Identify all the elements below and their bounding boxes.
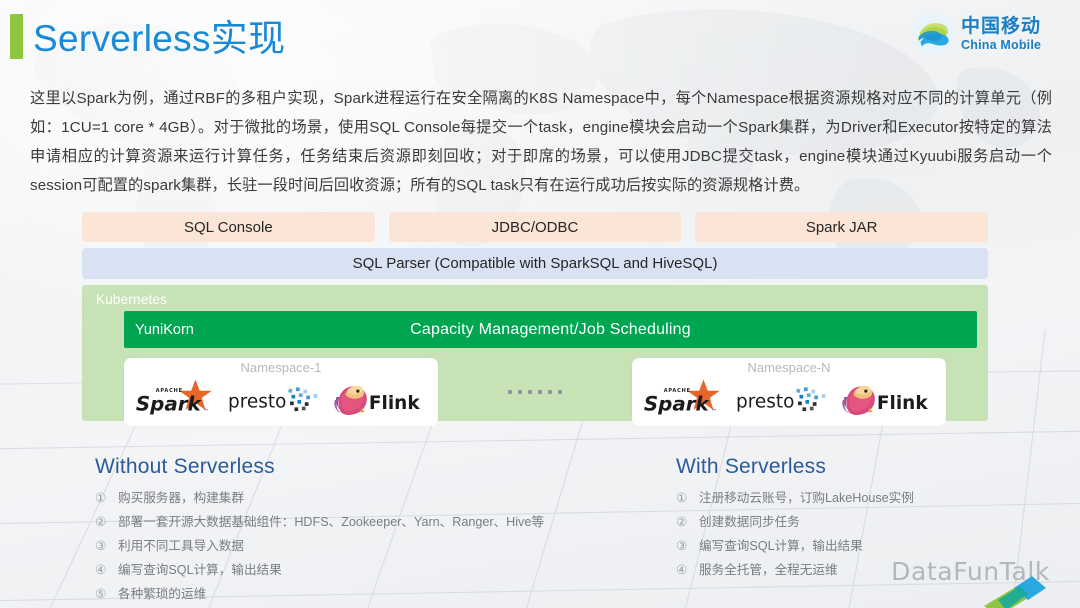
list-item-text: 利用不同工具导入数据 (118, 536, 244, 558)
list-item: ② 创建数据同步任务 (676, 512, 1066, 534)
datafuntalk-logo-icon (940, 554, 1060, 608)
kubernetes-container: Kubernetes YuniKorn Capacity Management/… (82, 285, 988, 421)
china-mobile-logo-text: 中国移动 China Mobile (961, 17, 1041, 52)
apache-flink-logo-icon: Flink (840, 378, 936, 422)
logo-text-en: China Mobile (961, 39, 1041, 52)
list-item-number: ④ (676, 560, 690, 582)
svg-text:™: ™ (711, 407, 717, 415)
with-serverless-title: With Serverless (676, 455, 1066, 479)
entry-box-jdbc-odbc[interactable]: JDBC/ODBC (389, 212, 682, 242)
page-title: Serverless实现 (33, 8, 285, 62)
list-item-text: 购买服务器，构建集群 (118, 488, 244, 510)
entry-box-spark-jar[interactable]: Spark JAR (695, 212, 988, 242)
namespace-1-title: Namespace-1 (124, 360, 438, 375)
list-item-text: 创建数据同步任务 (699, 512, 800, 534)
list-item: ⑤ 各种繁琐的运维 (95, 584, 635, 606)
list-item-number: ① (676, 488, 690, 510)
namespaces-ellipsis (508, 390, 562, 394)
svg-text:presto: presto (228, 391, 286, 412)
body-paragraph: 这里以Spark为例，通过RBF的多租户实现，Spark进程运行在安全隔离的K8… (30, 84, 1052, 200)
yunikorn-bar[interactable]: YuniKorn Capacity Management/Job Schedul… (124, 311, 977, 348)
namespace-box-1[interactable]: Namespace-1 APACHE Spark ™ presto (124, 358, 438, 426)
namespace-n-title: Namespace-N (632, 360, 946, 375)
list-item-number: ③ (676, 536, 690, 558)
entry-points-row: SQL Console JDBC/ODBC Spark JAR (82, 212, 988, 242)
svg-text:™: ™ (203, 407, 209, 415)
namespace-n-engines: APACHE Spark ™ presto (632, 376, 946, 424)
list-item-text: 编写查询SQL计算，输出结果 (118, 560, 282, 582)
list-item-number: ③ (95, 536, 109, 558)
yunikorn-name: YuniKorn (135, 322, 194, 338)
architecture-diagram: SQL Console JDBC/ODBC Spark JAR SQL Pars… (82, 212, 988, 421)
list-item: ① 购买服务器，构建集群 (95, 488, 635, 510)
list-item-text: 各种繁琐的运维 (118, 584, 206, 606)
logo-text-cn: 中国移动 (961, 17, 1041, 36)
svg-text:Flink: Flink (877, 393, 928, 414)
list-item-number: ② (676, 512, 690, 534)
list-item: ① 注册移动云账号，订购LakeHouse实例 (676, 488, 1066, 510)
without-serverless-title: Without Serverless (95, 455, 635, 479)
without-serverless-list: ① 购买服务器，构建集群 ② 部署一套开源大数据基础组件：HDFS、Zookee… (95, 488, 635, 606)
list-item-text: 部署一套开源大数据基础组件：HDFS、Zookeeper、Yarn、Ranger… (118, 512, 544, 534)
list-item-number: ⑤ (95, 584, 109, 606)
list-item-text: 服务全托管，全程无运维 (699, 560, 838, 582)
sql-parser-bar[interactable]: SQL Parser (Compatible with SparkSQL and… (82, 248, 988, 279)
svg-text:Spark: Spark (644, 393, 711, 416)
list-item-text: 编写查询SQL计算，输出结果 (699, 536, 863, 558)
namespaces-row: Namespace-1 APACHE Spark ™ presto (92, 358, 978, 426)
apache-spark-logo-icon: APACHE Spark ™ (134, 378, 220, 422)
china-mobile-mark-icon (912, 13, 954, 55)
china-mobile-logo: 中国移动 China Mobile (912, 11, 1064, 57)
list-item-number: ① (95, 488, 109, 510)
list-item: ② 部署一套开源大数据基础组件：HDFS、Zookeeper、Yarn、Rang… (95, 512, 635, 534)
list-item-text: 注册移动云账号，订购LakeHouse实例 (699, 488, 914, 510)
slide-root: Serverless实现 中国移动 China Mobile 这里以Spark为… (0, 0, 1080, 608)
namespace-1-engines: APACHE Spark ™ presto (124, 376, 438, 424)
presto-logo-icon: presto (736, 380, 832, 420)
without-serverless-column: Without Serverless ① 购买服务器，构建集群 ② 部署一套开源… (95, 455, 635, 608)
list-item-number: ④ (95, 560, 109, 582)
title-accent-bar (10, 14, 23, 59)
apache-flink-logo-icon: Flink (332, 378, 428, 422)
yunikorn-function: Capacity Management/Job Scheduling (124, 321, 977, 339)
svg-text:Spark: Spark (136, 393, 203, 416)
presto-logo-icon: presto (228, 380, 324, 420)
svg-text:Flink: Flink (369, 393, 420, 414)
list-item-number: ② (95, 512, 109, 534)
namespace-box-n[interactable]: Namespace-N APACHE Spark ™ presto (632, 358, 946, 426)
apache-spark-logo-icon: APACHE Spark ™ (642, 378, 728, 422)
list-item: ③ 利用不同工具导入数据 (95, 536, 635, 558)
list-item: ④ 编写查询SQL计算，输出结果 (95, 560, 635, 582)
kubernetes-label: Kubernetes (96, 292, 978, 307)
svg-text:presto: presto (736, 391, 794, 412)
entry-box-sql-console[interactable]: SQL Console (82, 212, 375, 242)
